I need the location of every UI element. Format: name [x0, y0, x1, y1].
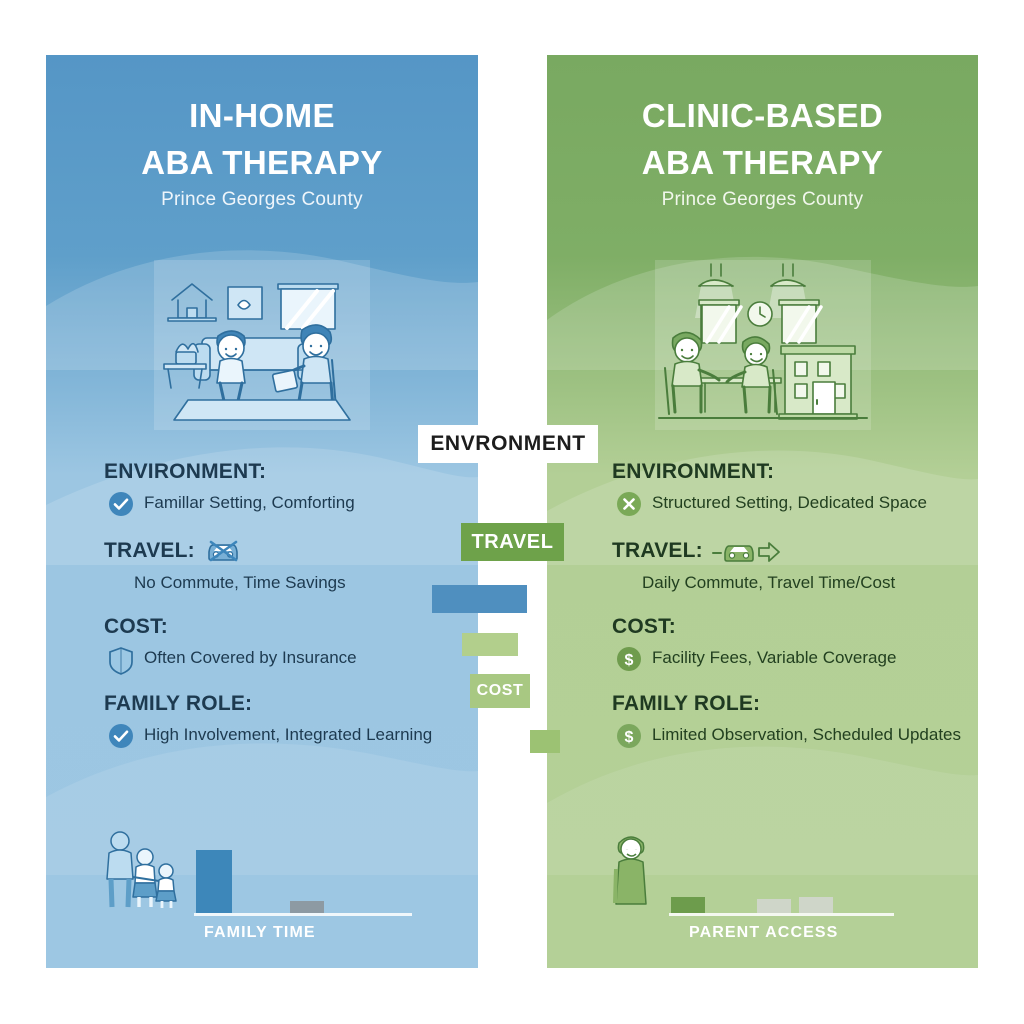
- panel-in-home: IN-HOME ABA THERAPY Prince Georges Count…: [46, 55, 478, 968]
- shield-icon: [108, 646, 134, 672]
- infographic-canvas: IN-HOME ABA THERAPY Prince Georges Count…: [0, 0, 1024, 1024]
- illustration-clinic-room: [655, 260, 871, 430]
- center-bar-green-light: [462, 633, 518, 656]
- bar-parent-access-gray-2: [799, 897, 833, 913]
- center-bar-blue: [432, 585, 527, 613]
- chart-parent-access: PARENT ACCESS: [609, 818, 958, 938]
- chart-baseline: [669, 913, 894, 916]
- feature-heading: ENVIRONMENT:: [612, 460, 968, 483]
- feature-heading-label: FAMILY ROLE:: [612, 692, 760, 715]
- title-line-1: IN-HOME: [189, 97, 335, 134]
- chart-family-time: FAMILY TIME: [104, 818, 458, 938]
- bar-parent-access-gray-1: [757, 899, 791, 913]
- feature-text: No Commute, Time Savings: [108, 570, 346, 595]
- feature-heading: FAMILY ROLE:: [612, 692, 968, 715]
- feature-heading: TRAVEL:: [104, 537, 460, 563]
- family-of-three-icon: [104, 829, 184, 916]
- feature-family-role: FAMILY ROLE: $ Limited Observation, Sche…: [612, 692, 968, 749]
- svg-text:$: $: [625, 652, 634, 669]
- bar-family-time-low: [290, 901, 324, 913]
- title-line-1: CLINIC-BASED: [642, 97, 883, 134]
- feature-list-left: ENVIRONMENT: Famillar Setting, Comfortin…: [104, 460, 460, 769]
- panel-clinic-based: CLINIC-BASED ABA THERAPY Prince Georges …: [547, 55, 978, 968]
- feature-heading: ENVIRONMENT:: [104, 460, 460, 483]
- subtitle-right: Prince Georges County: [547, 189, 978, 211]
- center-bar-green-small: [530, 730, 560, 753]
- dollar-circle-icon: $: [616, 646, 642, 672]
- feature-cost: COST: Often Covered by Insurance: [104, 615, 460, 672]
- svg-text:$: $: [625, 729, 634, 746]
- bar-family-time-high: [196, 850, 232, 913]
- feature-list-right: ENVIRONMENT: Structured Setting, Dedicat…: [612, 460, 968, 769]
- dollar-circle-icon: $: [616, 723, 642, 749]
- feature-heading: FAMILY ROLE:: [104, 692, 460, 715]
- feature-heading-label: ENVIRONMENT:: [104, 460, 266, 483]
- feature-heading-label: COST:: [104, 615, 168, 638]
- illustration-home-living-room: [154, 260, 370, 430]
- feature-heading-label: TRAVEL:: [104, 539, 195, 562]
- feature-heading-label: FAMILY ROLE:: [104, 692, 252, 715]
- feature-text: Famillar Setting, Comforting: [144, 490, 355, 515]
- feature-text: Limited Observation, Scheduled Updates: [652, 722, 961, 747]
- feature-text: Daily Commute, Travel Time/Cost: [616, 570, 895, 595]
- feature-heading: TRAVEL:: [612, 537, 968, 563]
- feature-family-role: FAMILY ROLE: High Involvement, Integrate…: [104, 692, 460, 749]
- feature-travel: TRAVEL: Daily Commute, Travel Time: [612, 537, 968, 595]
- car-arrow-icon: [711, 537, 789, 563]
- feature-environment: ENVIRONMENT: Famillar Setting, Comfortin…: [104, 460, 460, 517]
- chart-label-parent-access: PARENT ACCESS: [689, 924, 838, 942]
- title-line-2: ABA THERAPY: [46, 140, 478, 187]
- title-line-2: ABA THERAPY: [547, 140, 978, 187]
- check-circle-icon: [108, 723, 134, 749]
- subtitle-left: Prince Georges County: [46, 189, 478, 211]
- feature-travel: TRAVEL: No Commute, Time Savings: [104, 537, 460, 595]
- feature-heading: COST:: [612, 615, 968, 638]
- feature-text: High Involvement, Integrated Learning: [144, 722, 432, 747]
- feature-text: Structured Setting, Dedicated Space: [652, 490, 927, 515]
- feature-heading: COST:: [104, 615, 460, 638]
- travel-badge[interactable]: TRAVEL: [461, 523, 564, 561]
- feature-environment: ENVIRONMENT: Structured Setting, Dedicat…: [612, 460, 968, 517]
- cost-badge[interactable]: COST: [470, 674, 530, 708]
- bar-parent-access-green: [671, 897, 705, 913]
- environment-badge[interactable]: ENVRONMENT: [418, 425, 598, 463]
- feature-heading-label: COST:: [612, 615, 676, 638]
- page-title-left: IN-HOME ABA THERAPY: [46, 93, 478, 187]
- single-parent-icon: [609, 829, 659, 916]
- x-circle-icon: [616, 491, 642, 517]
- feature-heading-label: ENVIRONMENT:: [612, 460, 774, 483]
- feature-cost: COST: $ Facility Fees, Variable Coverage: [612, 615, 968, 672]
- chart-label-family-time: FAMILY TIME: [204, 924, 316, 942]
- check-circle-icon: [108, 491, 134, 517]
- chart-baseline: [194, 913, 412, 916]
- feature-heading-label: TRAVEL:: [612, 539, 703, 562]
- car-crossed-out-icon: [203, 537, 243, 563]
- page-title-right: CLINIC-BASED ABA THERAPY: [547, 93, 978, 187]
- feature-text: Facility Fees, Variable Coverage: [652, 645, 896, 670]
- feature-text: Often Covered by Insurance: [144, 645, 357, 670]
